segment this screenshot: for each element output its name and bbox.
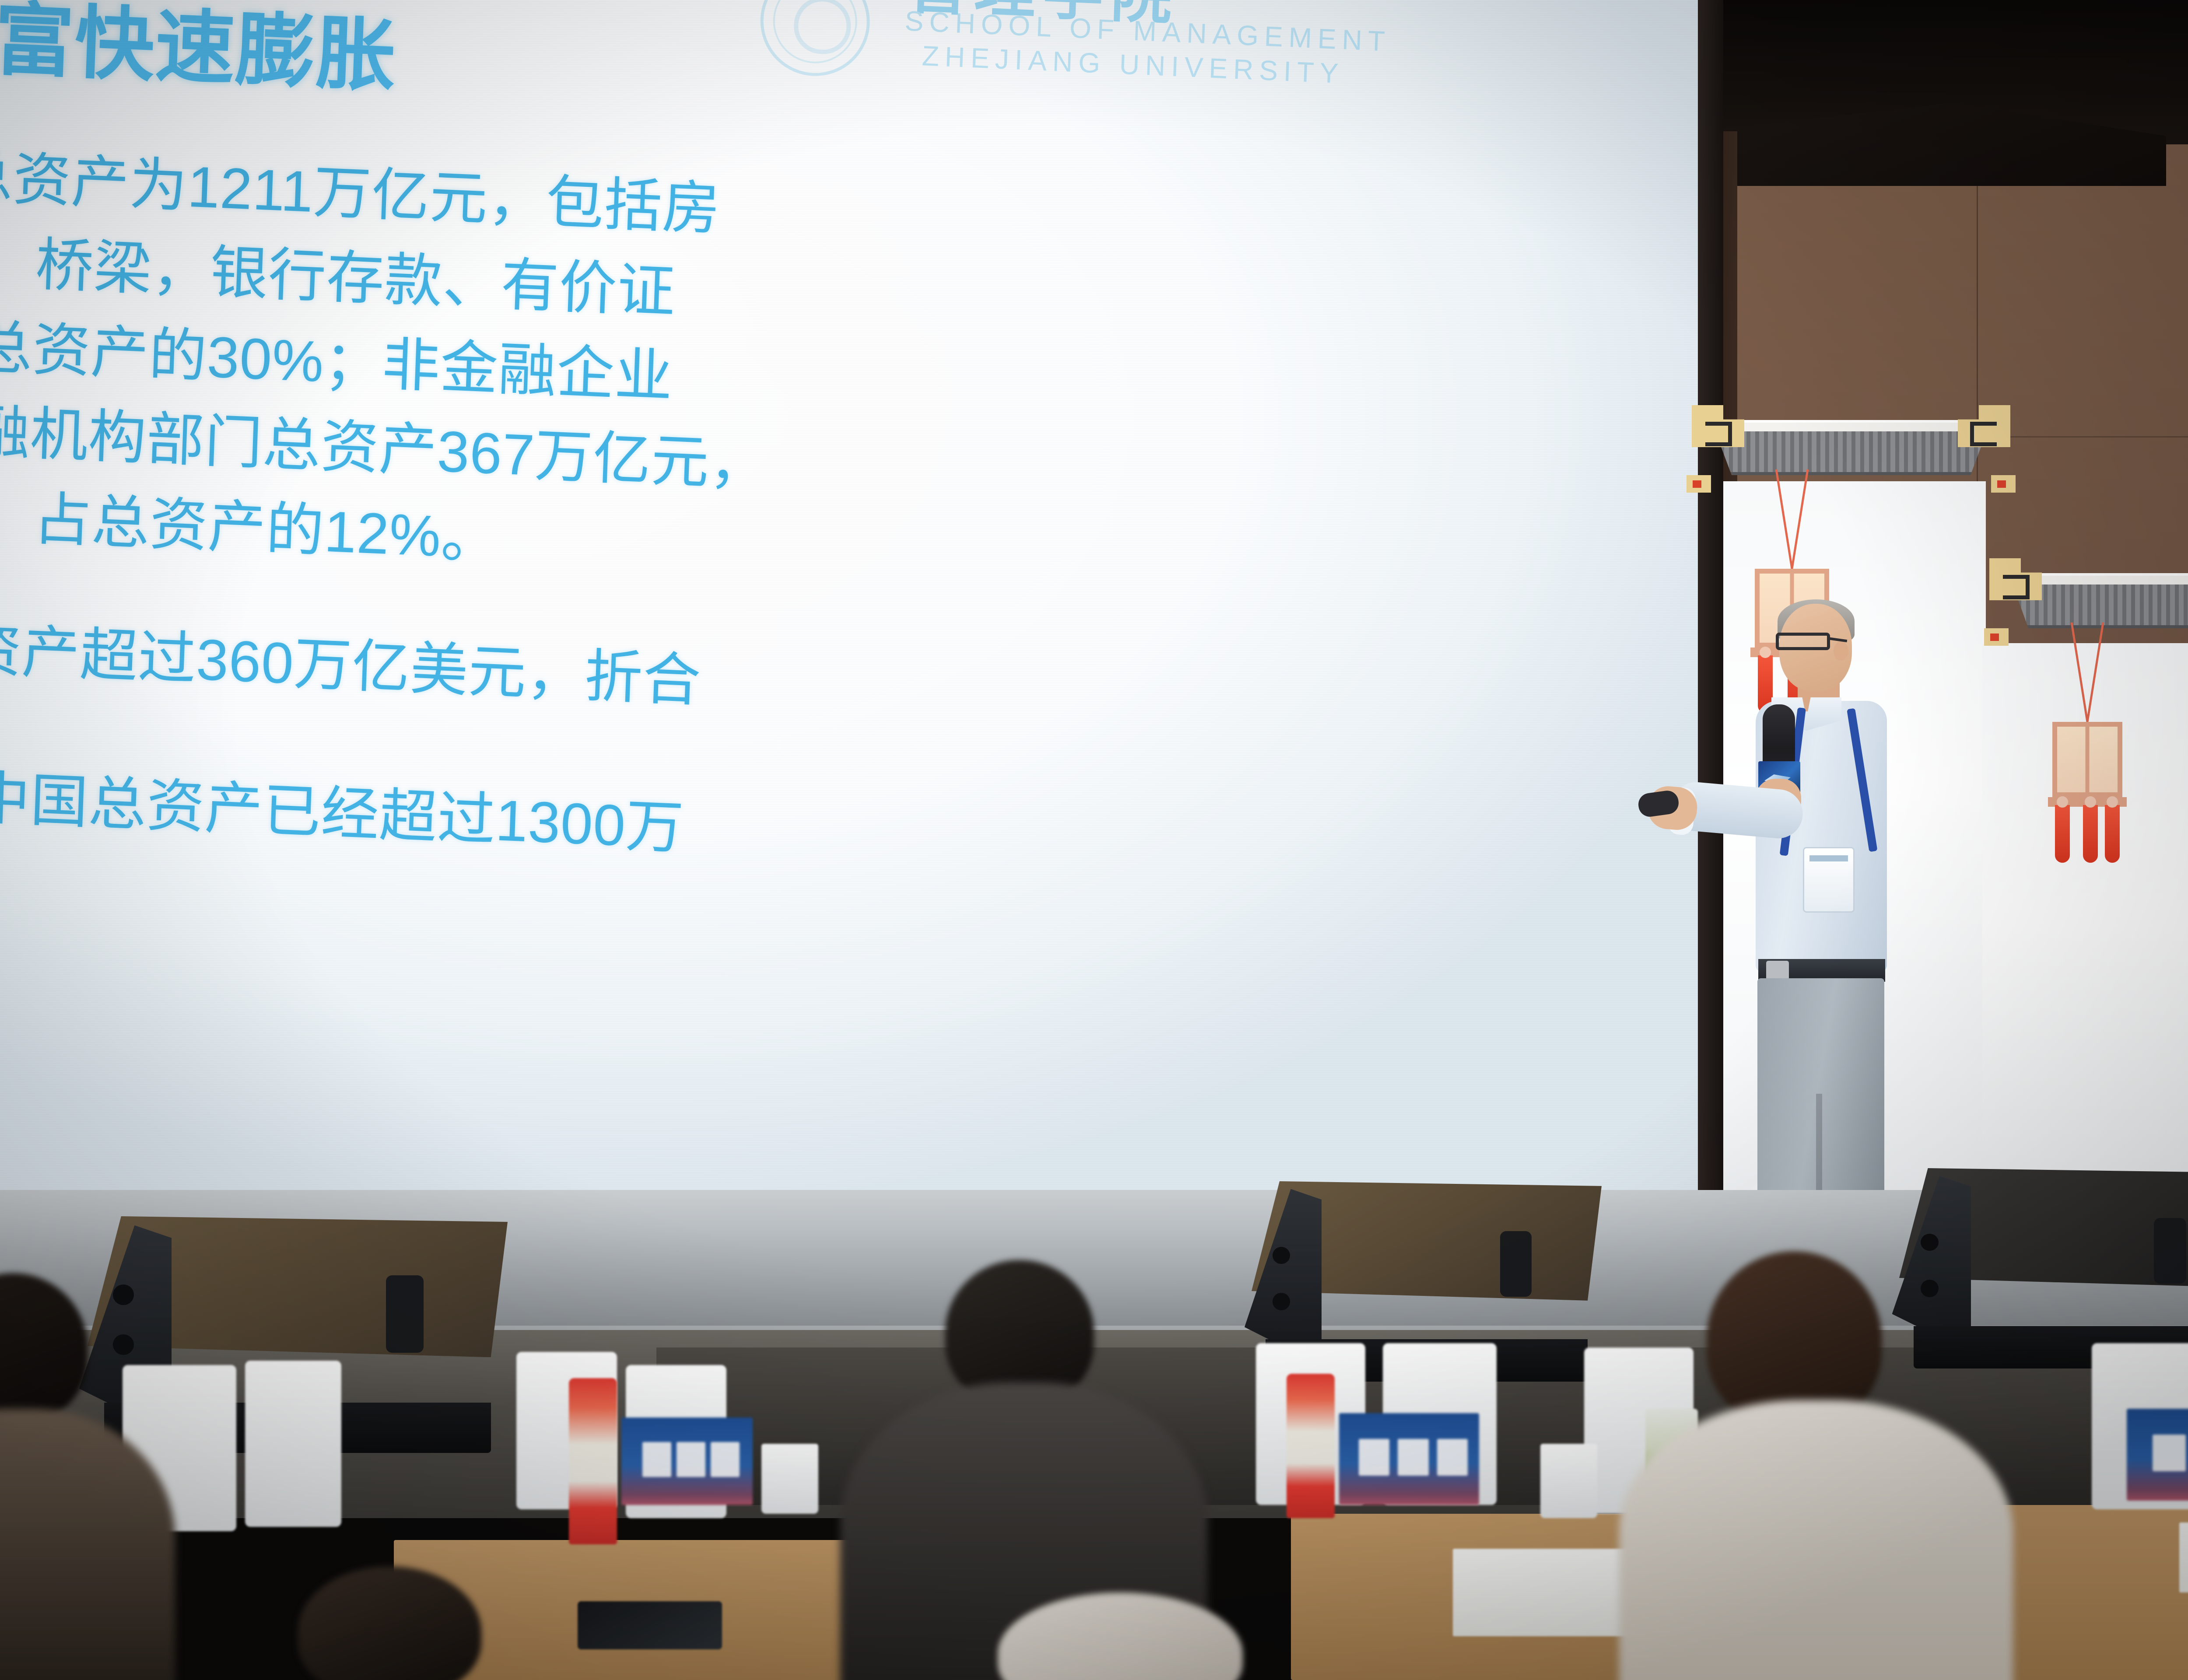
name-card-character [1398,1439,1428,1476]
audience-foreground [0,1234,2188,1680]
roof-tiles [1715,431,1987,475]
lantern-tassel [2055,805,2070,863]
chinese-roof-eave [1707,420,1995,486]
roof-ridge [1707,420,1995,431]
photograph-scene: 管理学院 SCHOOL OF MANAGEMENT ZHEJIANG UNIVE… [0,0,2188,1680]
name-card-character [1437,1439,1468,1476]
paper-cup [1540,1444,1597,1518]
smartphone[interactable] [578,1601,722,1649]
audience-head [0,1273,88,1422]
lantern-tassel [2105,805,2120,863]
name-card-character [1359,1439,1389,1476]
presenter-badge [1803,847,1855,913]
roof-tip-left [1687,475,1711,493]
name-card-character [2153,1435,2186,1471]
roof-tip-right [1991,475,2016,493]
notepad [2179,1522,2188,1592]
tassel-bead [2057,796,2068,808]
presenter-ear [1834,641,1848,661]
lantern-tassel [2083,805,2098,863]
chinese-roof-eave [2004,573,2188,639]
eyeglasses-icon [1776,633,1830,650]
audience-body [1619,1400,2013,1680]
slide-body-line: 年美国总资产超过360万亿美元，折合 [0,598,1481,755]
paper-cup [761,1444,818,1514]
audience-name-card [2127,1409,2188,1501]
paper-lantern [2052,722,2122,797]
slide-body-line: ，2019年中国总资产已经超过1300万 [0,746,1476,903]
presentation-slide: 管理学院 SCHOOL OF MANAGEMENT ZHEJIANG UNIVE… [0,0,1679,1225]
audience-name-card [621,1417,753,1505]
slide-body: 6年中国总资产为1211万亿元，包括房 路、公路、桥梁，银行存款、有价证 亿元，… [0,127,1498,906]
name-card-character [642,1442,671,1477]
projection-screen: 管理学院 SCHOOL OF MANAGEMENT ZHEJIANG UNIVE… [0,0,1698,1225]
tassel-bead [2107,796,2118,808]
audience-chair [245,1361,341,1527]
roof-tip-left [1984,628,2009,646]
water-bottle [569,1378,617,1544]
name-card-character [677,1442,705,1477]
lantern-body [2052,722,2122,797]
tassel-bead [2085,796,2096,808]
belt-buckle [1766,961,1789,980]
name-card-character [711,1442,740,1477]
water-bottle [1287,1374,1335,1518]
audience-name-card [1339,1413,1479,1505]
